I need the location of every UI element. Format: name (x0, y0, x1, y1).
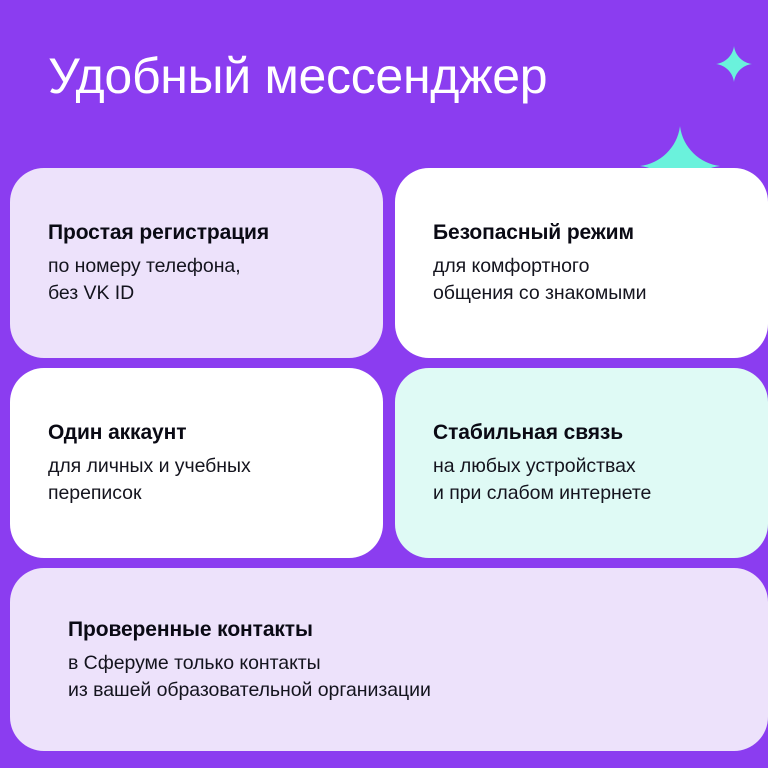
page-title: Удобный мессенджер (48, 45, 688, 107)
feature-card-verified-contacts[interactable]: Проверенные контакты в Сферуме только ко… (10, 568, 768, 751)
card-body: в Сферуме только контакты из вашей образ… (68, 650, 730, 704)
card-body: для комфортного общения со знакомыми (433, 253, 730, 307)
feature-card-one-account[interactable]: Один аккаунт для личных и учебных перепи… (10, 368, 383, 558)
card-heading: Простая регистрация (48, 219, 345, 246)
card-body: по номеру телефона, без VK ID (48, 253, 345, 307)
feature-card-safe-mode[interactable]: Безопасный режим для комфортного общения… (395, 168, 768, 358)
card-heading: Безопасный режим (433, 219, 730, 246)
feature-card-grid: Простая регистрация по номеру телефона, … (10, 168, 758, 751)
card-body: для личных и учебных переписок (48, 453, 345, 507)
card-heading: Стабильная связь (433, 419, 730, 446)
feature-card-stable-connection[interactable]: Стабильная связь на любых устройствах и … (395, 368, 768, 558)
card-heading: Один аккаунт (48, 419, 345, 446)
feature-card-simple-registration[interactable]: Простая регистрация по номеру телефона, … (10, 168, 383, 358)
sparkle-small-icon (716, 46, 752, 82)
card-body: на любых устройствах и при слабом интерн… (433, 453, 730, 507)
promo-poster: Удобный мессенджер Простая регистрация п… (0, 0, 768, 768)
card-heading: Проверенные контакты (68, 616, 730, 643)
